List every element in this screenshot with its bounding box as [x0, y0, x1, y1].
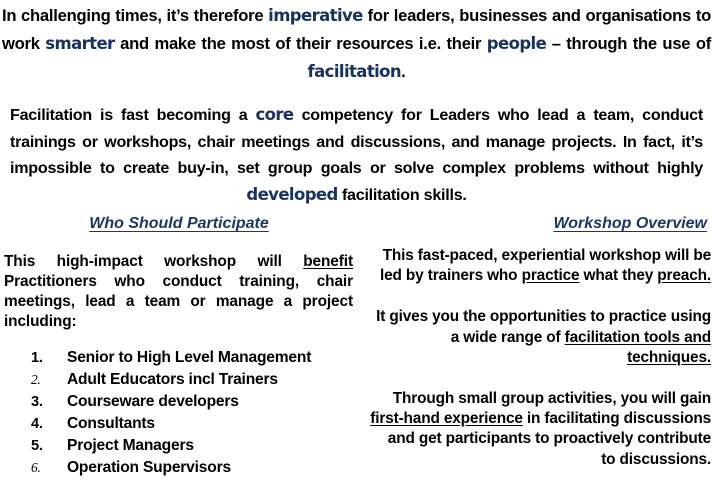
list-item-label: Adult Educators incl Trainers: [67, 369, 353, 390]
list-item-label: Operation Supervisors: [67, 457, 353, 478]
underlined-phrase: preach.: [657, 267, 711, 284]
underlined-phrase: benefit: [303, 253, 353, 270]
text-run: what they: [579, 267, 657, 284]
list-item-label: Senior to High Level Management: [67, 347, 353, 368]
highlighted-word: smarter: [45, 34, 114, 53]
who-should-participate-paragraph: This high-impact workshop will benefit P…: [4, 252, 353, 332]
text-run: .: [401, 62, 405, 81]
text-run: facilitation skills.: [338, 186, 467, 204]
left-column: This high-impact workshop will benefit P…: [4, 252, 353, 332]
list-item-number: 3.: [31, 392, 67, 413]
document-page: In challenging times, it’s therefore imp…: [0, 0, 713, 502]
highlighted-word: core: [255, 105, 293, 124]
list-item: 1.Senior to High Level Management: [4, 347, 353, 369]
workshop-overview-heading: Workshop Overview: [358, 215, 711, 233]
intro-paragraph-2: Facilitation is fast becoming a core com…: [10, 102, 703, 208]
list-item-number: 1.: [31, 348, 67, 369]
underlined-phrase: facilitation tools and techniques.: [565, 329, 711, 366]
highlighted-word: developed: [246, 185, 337, 204]
workshop-overview-paragraph: It gives you the opportunities to practi…: [370, 307, 711, 368]
intro-paragraph-1: In challenging times, it’s therefore imp…: [2, 2, 711, 86]
workshop-overview-paragraph: This fast-paced, experiential workshop w…: [370, 246, 711, 286]
underlined-phrase: first-hand experience: [370, 410, 523, 427]
text-run: In challenging times, it’s therefore: [2, 6, 268, 25]
text-run: Facilitation is fast becoming a: [10, 106, 255, 124]
list-item: 4.Consultants: [4, 413, 353, 435]
list-item-label: Project Managers: [67, 435, 353, 456]
paragraph-spacer: [370, 286, 711, 307]
text-run: Practitioners who conduct training, chai…: [4, 273, 353, 330]
list-item-number: 6.: [31, 457, 67, 478]
list-item-label: Courseware developers: [67, 391, 353, 412]
list-item-number: 2.: [31, 369, 67, 390]
list-item: 6.Operation Supervisors: [4, 457, 353, 478]
list-item-label: Consultants: [67, 413, 353, 434]
workshop-overview-body: This fast-paced, experiential workshop w…: [370, 246, 711, 470]
highlighted-word: facilitation: [308, 62, 402, 81]
list-item: 3.Courseware developers: [4, 391, 353, 413]
list-item-number: 4.: [31, 414, 67, 435]
list-item: 5.Project Managers: [4, 435, 353, 457]
text-run: and make the most of their resources i.e…: [115, 34, 487, 53]
workshop-overview-paragraph: Through small group activities, you will…: [370, 389, 711, 470]
who-should-participate-heading: Who Should Participate: [0, 215, 358, 233]
underlined-phrase: practice: [522, 267, 580, 284]
text-run: This high-impact workshop will: [4, 253, 303, 270]
text-run: – through the use of: [546, 34, 711, 53]
participant-list: 1.Senior to High Level Management2.Adult…: [4, 347, 353, 479]
list-item-number: 5.: [31, 436, 67, 457]
text-run: Through small group activities, you will…: [393, 390, 711, 407]
highlighted-word: people: [487, 34, 546, 53]
list-item: 2.Adult Educators incl Trainers: [4, 369, 353, 390]
highlighted-word: imperative: [268, 6, 363, 25]
paragraph-spacer: [370, 368, 711, 389]
